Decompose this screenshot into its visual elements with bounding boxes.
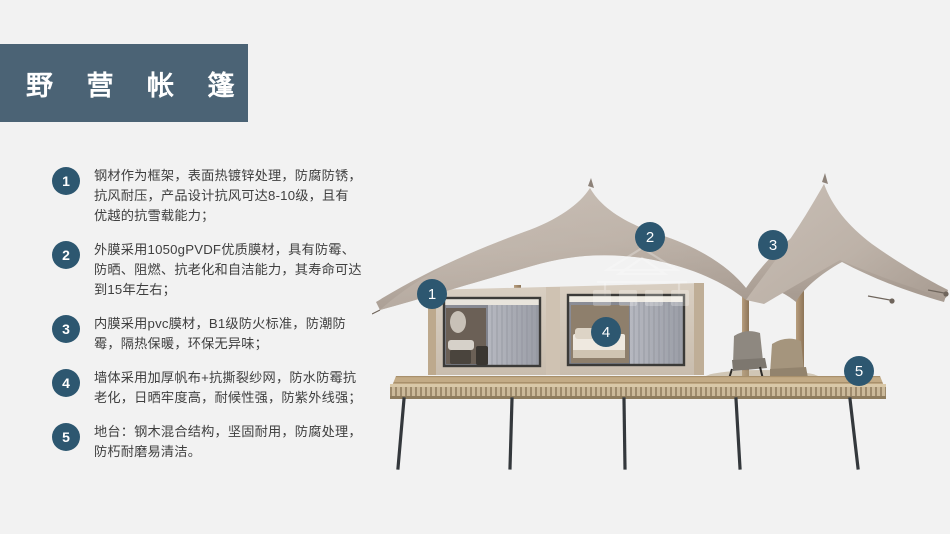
feature-text-5: 地台：钢木混合结构，坚固耐用，防腐处理，防朽耐磨易清洁。	[94, 422, 362, 462]
feature-badge-5: 5	[52, 423, 80, 451]
feature-badge-1: 1	[52, 167, 80, 195]
feature-list: 1 钢材作为框架，表面热镀锌处理，防腐防锈，抗风耐压，产品设计抗风可达8-10级…	[52, 166, 372, 476]
feature-badge-4: 4	[52, 369, 80, 397]
feature-badge-2: 2	[52, 241, 80, 269]
title-banner: 野 营 帐 篷	[0, 44, 248, 122]
feature-text-2: 外膜采用1050gPVDF优质膜材，具有防霉、防晒、阻燃、抗老化和自洁能力，其寿…	[94, 240, 362, 300]
image-marker-5[interactable]: 5	[844, 356, 874, 386]
deck-platform	[390, 376, 886, 399]
tent-illustration	[372, 150, 950, 470]
list-item: 2 外膜采用1050gPVDF优质膜材，具有防霉、防晒、阻燃、抗老化和自洁能力，…	[52, 240, 372, 300]
list-item: 4 墙体采用加厚帆布+抗撕裂纱网，防水防霉抗老化，日晒牢度高，耐候性强，防紫外线…	[52, 368, 372, 408]
image-marker-2[interactable]: 2	[635, 222, 665, 252]
window-left	[444, 298, 540, 366]
tent-wall-module	[428, 283, 704, 375]
image-marker-3[interactable]: 3	[758, 230, 788, 260]
feature-text-3: 内膜采用pvc膜材，B1级防火标准，防潮防霉，隔热保暖，环保无异味；	[94, 314, 362, 354]
window-right	[568, 295, 684, 365]
image-marker-1[interactable]: 1	[417, 279, 447, 309]
image-marker-4[interactable]: 4	[591, 317, 621, 347]
list-item: 5 地台：钢木混合结构，坚固耐用，防腐处理，防朽耐磨易清洁。	[52, 422, 372, 462]
deck-steel-legs	[398, 399, 858, 468]
slide-root: 野 营 帐 篷 1 钢材作为框架，表面热镀锌处理，防腐防锈，抗风耐压，产品设计抗…	[0, 0, 950, 534]
list-item: 3 内膜采用pvc膜材，B1级防火标准，防潮防霉，隔热保暖，环保无异味；	[52, 314, 372, 354]
page-title: 野 营 帐 篷	[0, 64, 248, 103]
feature-badge-3: 3	[52, 315, 80, 343]
feature-text-4: 墙体采用加厚帆布+抗撕裂纱网，防水防霉抗老化，日晒牢度高，耐候性强，防紫外线强；	[94, 368, 362, 408]
list-item: 1 钢材作为框架，表面热镀锌处理，防腐防锈，抗风耐压，产品设计抗风可达8-10级…	[52, 166, 372, 226]
feature-text-1: 钢材作为框架，表面热镀锌处理，防腐防锈，抗风耐压，产品设计抗风可达8-10级，且…	[94, 166, 362, 226]
